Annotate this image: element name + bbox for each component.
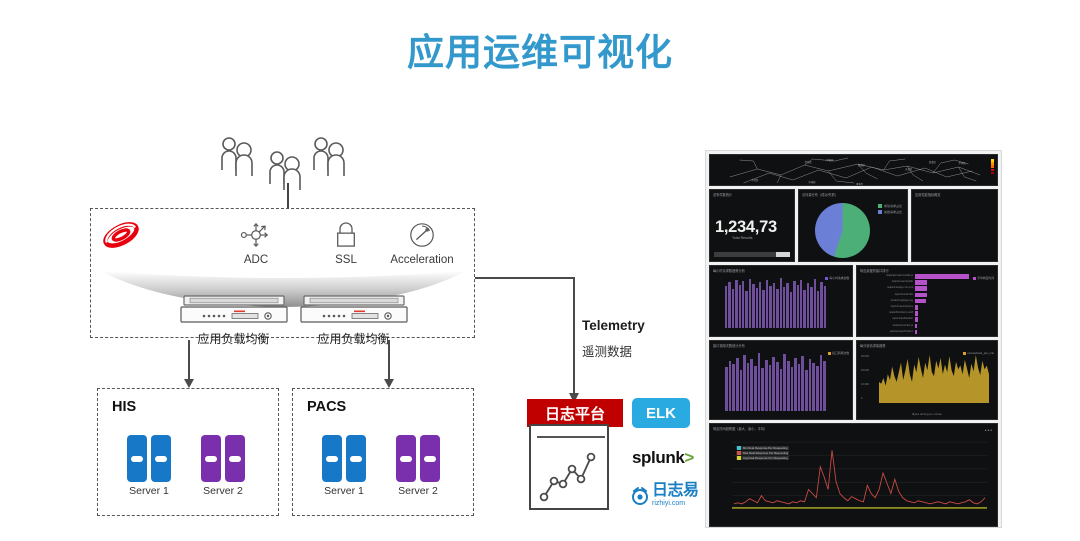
kpi-sublabel: Total Results	[732, 236, 753, 240]
architecture-diagram: ADC SSL	[0, 0, 700, 541]
splunk-logo: splunk>	[632, 448, 694, 468]
dashboard-panel-slowest-apis[interactable]: 响应最慢的接口排行 平均响应时间 /static/js/main.bundle.…	[856, 265, 998, 337]
app-group-title: HIS	[112, 399, 136, 415]
splunk-wordmark: splunk	[632, 448, 684, 467]
svg-text:港澳台: 港澳台	[856, 182, 864, 186]
panel-title: 应用性能指标概览	[915, 192, 941, 197]
app-group-pacs: PACS Server 1 Server 2	[292, 388, 474, 516]
legend-label: 失败请求占比	[884, 210, 902, 214]
server-group: Server 2	[385, 435, 451, 497]
server-label: Server 1	[116, 485, 182, 497]
panel-scrollbar[interactable]	[714, 252, 790, 257]
telemetry-connector-horizontal	[475, 277, 575, 279]
panel-title: 访问量分布（成功/失败）	[802, 192, 838, 197]
kpi-value: 1,234,73	[715, 218, 777, 237]
edge-platform-box: ADC SSL	[90, 208, 475, 338]
column-chart	[725, 353, 826, 411]
legend-label: 接口调用次数	[832, 351, 849, 355]
panel-menu-icon[interactable]: •••	[985, 428, 993, 434]
dashboard-panel-api-calls[interactable]: 接口调用次数统计分布 接口调用次数	[709, 340, 853, 420]
svg-text:华北区: 华北区	[751, 178, 759, 182]
category-label: /static/fonts/icon.woff	[867, 311, 913, 316]
log-analytics-dashboard-screenshot[interactable]: 华北区 华东区 华南区 西南区 东北区 西北区 华中区 中南区 港澳台	[705, 150, 1002, 528]
svg-text:西南区: 西南区	[858, 163, 866, 167]
y-axis-ticks: 30,000 20,000 10,000 0	[861, 355, 877, 403]
server-label: Server 2	[190, 485, 256, 497]
y-tick: 10,000	[861, 383, 877, 386]
people-icon	[310, 136, 354, 178]
elk-badge[interactable]: ELK	[632, 398, 690, 428]
server-group: Server 2	[190, 435, 256, 497]
category-label: /static/img/logo.png	[867, 299, 913, 304]
telemetry-label-en: Telemetry	[582, 318, 645, 333]
panel-title: 接口调用次数统计分布	[713, 343, 745, 348]
speedometer-icon	[367, 217, 477, 253]
panel-title: 总事件数统计	[713, 192, 732, 197]
category-label: /api/v1/user/profile	[867, 280, 913, 285]
server-icon	[420, 435, 440, 482]
category-label: /static/js/main.bundle.js	[867, 274, 913, 279]
category-label: /api/v1/order/list	[867, 293, 913, 298]
server-icon	[201, 435, 221, 482]
server-label: Server 1	[311, 485, 377, 497]
column-chart	[725, 278, 826, 328]
akamai-logo	[99, 219, 143, 251]
dashboard-panel-empty[interactable]: 应用性能指标概览	[911, 189, 998, 262]
rizhiyi-name-cn: 日志易	[652, 483, 699, 499]
telemetry-label-cn: 遥测数据	[582, 341, 632, 360]
dashboard-panel-pie[interactable]: 访问量分布（成功/失败） 成功请求占比 失败请求占比	[798, 189, 908, 262]
svg-text:东北区: 东北区	[905, 167, 913, 171]
pie-legend: 成功请求占比 失败请求占比	[878, 204, 902, 216]
users-group	[218, 136, 358, 186]
splunk-chevron-icon: >	[684, 448, 694, 467]
load-balancer-2: 应用负载均衡	[296, 295, 411, 347]
slide-root: 应用运维可视化	[0, 0, 1080, 541]
server-icon	[322, 435, 342, 482]
dashboard-panel-response-time[interactable]: 响应时间趋势图（最大、最小、平均） ••• Min Real Response …	[709, 423, 998, 527]
load-balancer-1: 应用负载均衡	[176, 295, 291, 347]
svg-text:华中区: 华中区	[959, 161, 967, 165]
chart-legend: 平均响应时间	[973, 276, 994, 280]
app-group-his: HIS Server 1 Server 2	[97, 388, 279, 516]
legend-label: 每小时请求总数	[829, 276, 849, 280]
edge-to-pacs-arrow	[388, 340, 390, 380]
svg-text:中南区: 中南区	[809, 180, 817, 184]
dashboard-panel-network-map[interactable]: 华北区 华东区 华南区 西南区 东北区 西北区 华中区 中南区 港澳台	[709, 154, 998, 186]
appliance-label: 应用负载均衡	[296, 330, 411, 347]
dashboard-panel-total-results[interactable]: 总事件数统计 1,234,73 Total Results	[709, 189, 795, 262]
edge-to-his-arrow	[188, 340, 190, 380]
panel-title: 响应时间趋势图（最大、最小、平均）	[713, 426, 767, 431]
dashboard-panel-bytes-per-minute[interactable]: 每分钟请求量趋势 connections_per_min 30,000 20,0…	[856, 340, 998, 420]
dashboard-panel-hourly-requests[interactable]: 每小时请求数趋势分析 每小时请求总数	[709, 265, 853, 337]
app-group-title: PACS	[307, 399, 346, 415]
y-tick: 20,000	[861, 369, 877, 372]
log-platform-badge[interactable]: 日志平台	[527, 399, 623, 427]
category-label: /api/v1/report/query	[867, 305, 913, 310]
svg-text:华东区: 华东区	[805, 160, 813, 164]
rack-appliance-icon	[298, 295, 410, 325]
server-icon	[396, 435, 416, 482]
users-to-edge-arrow	[287, 183, 289, 209]
server-label: Server 2	[385, 485, 451, 497]
category-label: /api/v1/auth/token	[867, 317, 913, 322]
panel-title: 响应最慢的接口排行	[860, 268, 889, 273]
line-chart-card-icon	[529, 424, 609, 510]
rizhiyi-mark-icon	[630, 485, 650, 505]
svg-text:西北区: 西北区	[929, 160, 937, 164]
pie-chart	[815, 203, 870, 258]
map-color-legend	[991, 159, 994, 175]
chart-legend: 每小时请求总数	[825, 276, 849, 280]
telemetry-connector-vertical	[573, 277, 575, 395]
hbar-category-labels: /static/js/main.bundle.js /api/v1/user/p…	[867, 274, 913, 336]
appliance-label: 应用负载均衡	[176, 330, 291, 347]
panel-title: 每分钟请求量趋势	[860, 343, 886, 348]
line-chart	[732, 438, 987, 510]
server-group: Server 1	[116, 435, 182, 497]
category-label: /api/v1/search/index	[867, 330, 913, 335]
area-chart	[879, 355, 989, 403]
server-icon	[225, 435, 245, 482]
rizhiyi-logo: 日志易 rizhiyi.com	[630, 483, 699, 507]
legend-label: 成功请求占比	[884, 204, 902, 208]
server-icon	[151, 435, 171, 482]
network-map-graph: 华北区 华东区 华南区 西南区 东北区 西北区 华中区 中南区 港澳台	[710, 155, 997, 186]
legend-label: 平均响应时间	[977, 276, 994, 280]
edge-feature-row: ADC SSL	[149, 217, 469, 275]
category-label: /static/js/vendor.js	[867, 324, 913, 329]
svg-text:华南区: 华南区	[826, 158, 834, 162]
y-tick: 30,000	[861, 355, 877, 358]
y-tick: 0	[861, 397, 877, 400]
rizhiyi-domain: rizhiyi.com	[652, 500, 699, 507]
x-axis-caption: Bytes during per minute	[857, 412, 997, 416]
server-icon	[346, 435, 366, 482]
server-group: Server 1	[311, 435, 377, 497]
rack-appliance-icon	[178, 295, 290, 325]
server-icon	[127, 435, 147, 482]
feature-acceleration: Acceleration	[367, 217, 477, 266]
chart-legend: 接口调用次数	[828, 351, 849, 355]
horizontal-bar-chart	[915, 274, 969, 332]
panel-title: 每小时请求数趋势分析	[713, 268, 745, 273]
feature-label: Acceleration	[367, 254, 477, 266]
category-label: /static/css/app.min.css	[867, 286, 913, 291]
people-icon	[218, 136, 262, 178]
